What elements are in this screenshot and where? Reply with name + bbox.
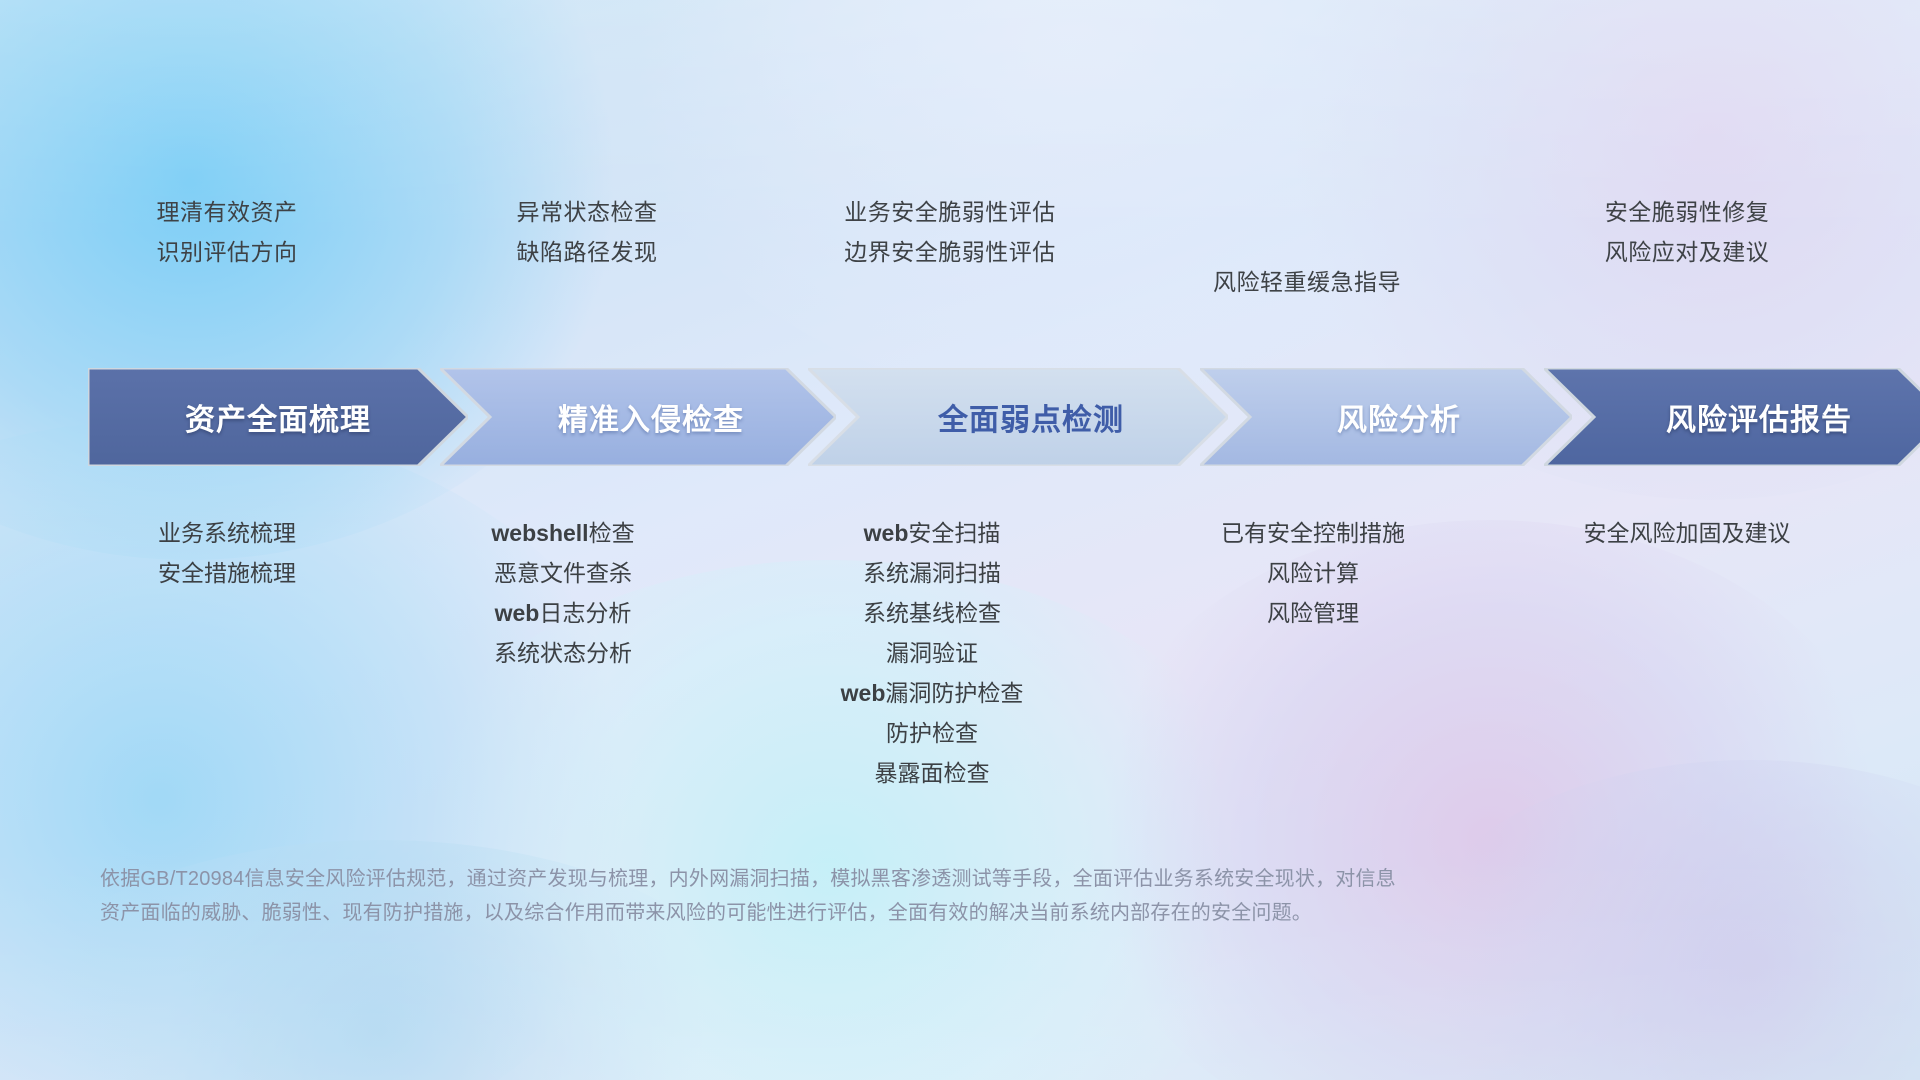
top-note: 业务安全脆弱性评估 xyxy=(844,192,1056,232)
list-item: 风险管理 xyxy=(1221,593,1405,633)
list-item: 系统漏洞扫描 xyxy=(841,553,1024,593)
stage-title: 资产全面梳理 xyxy=(185,395,371,439)
top-notes-stage-4: 风险轻重缓急指导 xyxy=(1213,262,1401,302)
bottom-items-stage-2: webshell检查 恶意文件查杀 web日志分析 系统状态分析 xyxy=(491,513,634,673)
top-note: 边界安全脆弱性评估 xyxy=(844,232,1056,272)
list-item: 业务系统梳理 xyxy=(158,513,296,553)
list-item: 恶意文件查杀 xyxy=(491,553,634,593)
list-item: 防护检查 xyxy=(841,713,1024,753)
list-item: web安全扫描 xyxy=(841,513,1024,553)
list-item: 漏洞验证 xyxy=(841,633,1024,673)
list-item: 风险计算 xyxy=(1221,553,1405,593)
stage-title: 风险评估报告 xyxy=(1666,395,1852,439)
list-item: 已有安全控制措施 xyxy=(1221,513,1405,553)
footer-line-1: 依据GB/T20984信息安全风险评估规范，通过资产发现与梳理，内外网漏洞扫描，… xyxy=(100,862,1640,896)
top-notes-stage-2: 异常状态检查 缺陷路径发现 xyxy=(517,192,658,272)
slide-content: 理清有效资产 识别评估方向 异常状态检查 缺陷路径发现 业务安全脆弱性评估 边界… xyxy=(0,0,1920,1080)
bottom-items-stage-4: 已有安全控制措施 风险计算 风险管理 xyxy=(1221,513,1405,633)
stage-arrow-1[interactable]: 资产全面梳理 xyxy=(88,368,468,466)
top-notes-stage-1: 理清有效资产 识别评估方向 xyxy=(157,192,298,272)
bottom-items-stage-1: 业务系统梳理 安全措施梳理 xyxy=(158,513,296,593)
top-notes-stage-5: 安全脆弱性修复 风险应对及建议 xyxy=(1605,192,1770,272)
list-item: 系统基线检查 xyxy=(841,593,1024,633)
list-item: 安全风险加固及建议 xyxy=(1584,513,1791,553)
list-item: 暴露面检查 xyxy=(841,753,1024,793)
list-item: webshell检查 xyxy=(491,513,634,553)
footer-line-2: 资产面临的威胁、脆弱性、现有防护措施，以及综合作用而带来风险的可能性进行评估，全… xyxy=(100,896,1640,930)
bottom-items-stage-3: web安全扫描 系统漏洞扫描 系统基线检查 漏洞验证 web漏洞防护检查 防护检… xyxy=(841,513,1024,793)
stage-title: 风险分析 xyxy=(1337,395,1461,439)
top-note: 风险应对及建议 xyxy=(1605,232,1770,272)
bottom-items-stage-5: 安全风险加固及建议 xyxy=(1584,513,1791,553)
top-note: 安全脆弱性修复 xyxy=(1605,192,1770,232)
list-item: web日志分析 xyxy=(491,593,634,633)
top-note: 缺陷路径发现 xyxy=(517,232,658,272)
top-note: 风险轻重缓急指导 xyxy=(1213,262,1401,302)
stage-arrow-2[interactable]: 精准入侵检查 xyxy=(440,368,836,466)
stage-arrow-4[interactable]: 风险分析 xyxy=(1200,368,1572,466)
top-note: 理清有效资产 xyxy=(157,192,298,232)
list-item: 系统状态分析 xyxy=(491,633,634,673)
list-item: web漏洞防护检查 xyxy=(841,673,1024,713)
top-notes-stage-3: 业务安全脆弱性评估 边界安全脆弱性评估 xyxy=(844,192,1056,272)
top-note: 识别评估方向 xyxy=(157,232,298,272)
footer-description: 依据GB/T20984信息安全风险评估规范，通过资产发现与梳理，内外网漏洞扫描，… xyxy=(100,862,1640,930)
stage-arrow-3[interactable]: 全面弱点检测 xyxy=(808,368,1228,466)
list-item: 安全措施梳理 xyxy=(158,553,296,593)
stage-title: 精准入侵检查 xyxy=(558,395,744,439)
stage-arrow-5[interactable]: 风险评估报告 xyxy=(1544,368,1920,466)
process-arrow-band: 资产全面梳理 精准入侵检查 xyxy=(88,368,1848,466)
stage-title: 全面弱点检测 xyxy=(938,395,1124,439)
top-note: 异常状态检查 xyxy=(517,192,658,232)
